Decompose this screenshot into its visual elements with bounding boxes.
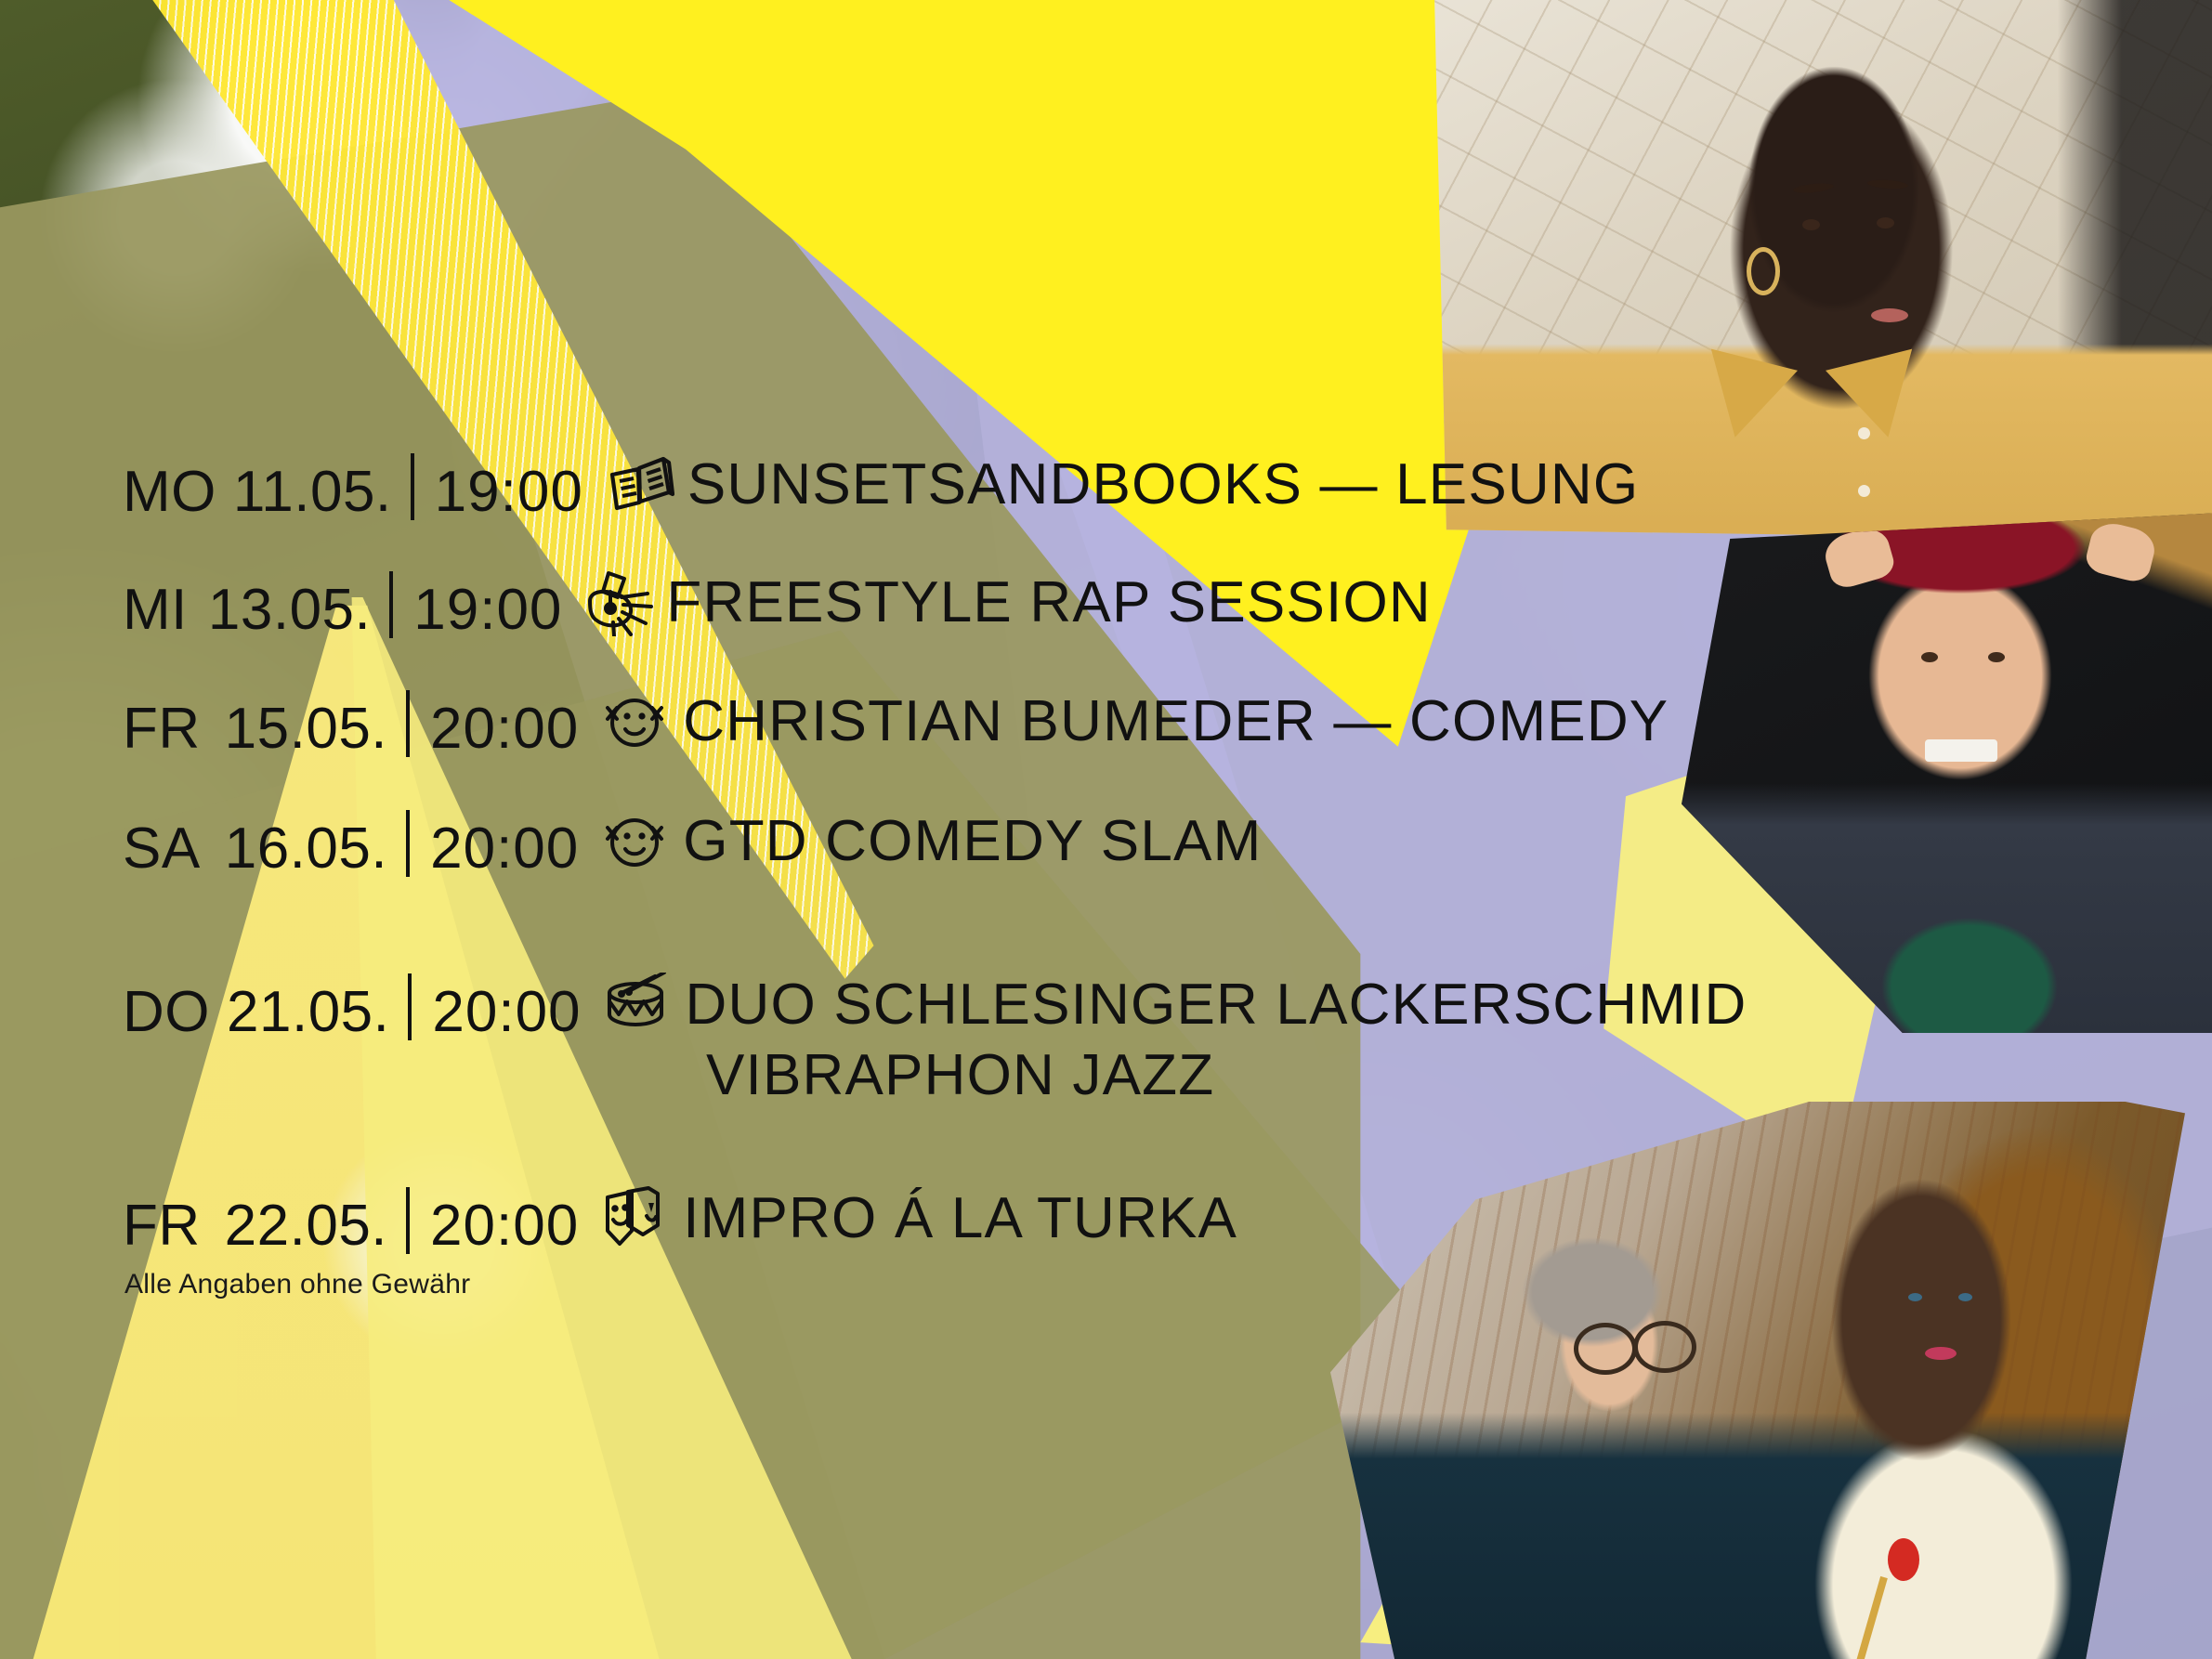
event-when-5: DO 21.05. 20:00: [123, 964, 582, 1045]
eye-left: [1908, 1293, 1922, 1301]
event-date-5: 21.05.: [227, 979, 389, 1045]
event-date-1: 11.05.: [233, 459, 392, 525]
program-row-6[interactable]: FR 22.05. 20:00 IMPRO Á LA TURKA: [123, 1178, 1237, 1259]
eye-left: [1802, 219, 1820, 230]
event-time-2: 19:00: [413, 577, 562, 643]
event-date-3: 15.05.: [225, 696, 387, 762]
event-title-2: FREESTYLE RAP SESSION: [666, 569, 1431, 635]
lips: [1925, 1347, 1957, 1360]
shirt-collar-left: [1692, 349, 1798, 449]
event-day-6: FR: [123, 1193, 201, 1259]
shirt-button-middle: [1858, 485, 1870, 497]
separator-bar-3: [406, 690, 410, 757]
eye-right: [1988, 652, 2005, 662]
event-title-6: IMPRO Á LA TURKA: [683, 1185, 1237, 1251]
microphone-icon: [575, 569, 661, 636]
event-subtitle-5: VIBRAPHON JAZZ: [706, 1042, 1214, 1108]
mallet-stick: [1850, 1576, 1888, 1659]
glasses-right-lens: [1633, 1321, 1696, 1373]
theatre-masks-icon: [592, 1186, 677, 1251]
event-time-4: 20:00: [430, 816, 579, 882]
program-row-2[interactable]: MI 13.05. 19:00 FREESTYLE RAP SESSION: [123, 562, 1432, 643]
event-title-1: SUNSETSANDBOOKS — LESUNG: [687, 451, 1639, 517]
lips: [1871, 308, 1908, 322]
event-day-2: MI: [123, 577, 188, 643]
program-row-1[interactable]: MO 11.05. 19:00 SUNSETSANDBOOKS — LESUNG: [123, 444, 1639, 525]
separator-bar-4: [406, 810, 410, 877]
event-poster: MO 11.05. 19:00 SUNSETSANDBOOKS — LESUNG: [0, 0, 2212, 1659]
event-day-1: MO: [123, 459, 216, 525]
smile-teeth: [1925, 739, 1997, 762]
open-book-icon: [596, 455, 682, 515]
shirt-button-top: [1858, 427, 1870, 439]
event-day-4: SA: [123, 816, 201, 882]
event-when-2: MI 13.05. 19:00: [123, 562, 562, 643]
event-title-4: GTD COMEDY SLAM: [683, 808, 1262, 874]
event-when-4: SA 16.05. 20:00: [123, 801, 579, 882]
eye-right: [1958, 1293, 1972, 1301]
separator-bar-2: [389, 571, 393, 638]
event-date-6: 22.05.: [225, 1193, 387, 1259]
event-day-5: DO: [123, 979, 210, 1045]
event-day-3: FR: [123, 696, 201, 762]
smiley-face-icon: [592, 691, 677, 752]
eye-left: [1921, 652, 1938, 662]
drum-icon: [595, 973, 680, 1038]
hand-right: [2083, 518, 2158, 584]
event-when-1: MO 11.05. 19:00: [123, 444, 583, 525]
eye-right: [1877, 217, 1894, 229]
separator-bar-6: [406, 1187, 410, 1254]
hand-left: [1821, 523, 1898, 591]
event-date-2: 13.05.: [208, 577, 371, 643]
hoop-earring: [1747, 247, 1780, 295]
event-time-6: 20:00: [430, 1193, 579, 1259]
event-time-1: 19:00: [435, 459, 583, 525]
disclaimer-text: Alle Angaben ohne Gewähr: [124, 1269, 470, 1300]
separator-bar-5: [408, 973, 412, 1040]
separator-bar-1: [411, 453, 414, 520]
event-date-4: 16.05.: [225, 816, 387, 882]
event-time-3: 20:00: [430, 696, 579, 762]
event-title-3: CHRISTIAN BUMEDER — COMEDY: [683, 688, 1669, 754]
program-row-3[interactable]: FR 15.05. 20:00 CHRISTIAN BUMEDER — COME…: [123, 681, 1669, 762]
event-when-3: FR 15.05. 20:00: [123, 681, 579, 762]
event-when-6: FR 22.05. 20:00: [123, 1178, 579, 1259]
program-row-4[interactable]: SA 16.05. 20:00 GTD COMEDY SLAM: [123, 801, 1262, 882]
event-time-5: 20:00: [432, 979, 581, 1045]
program-row-5[interactable]: DO 21.05. 20:00 DUO SCHLESINGER LACKERSC…: [123, 964, 1747, 1045]
event-title-5: DUO SCHLESINGER LACKERSCHMID: [686, 972, 1747, 1038]
mallet-head: [1888, 1538, 1919, 1581]
shirt-collar-right: [1826, 349, 1931, 449]
eyebrow-right: [1867, 178, 1909, 189]
smiley-face-icon: [592, 811, 677, 872]
glasses-left-lens: [1574, 1323, 1637, 1375]
eyebrow-left: [1793, 182, 1835, 195]
